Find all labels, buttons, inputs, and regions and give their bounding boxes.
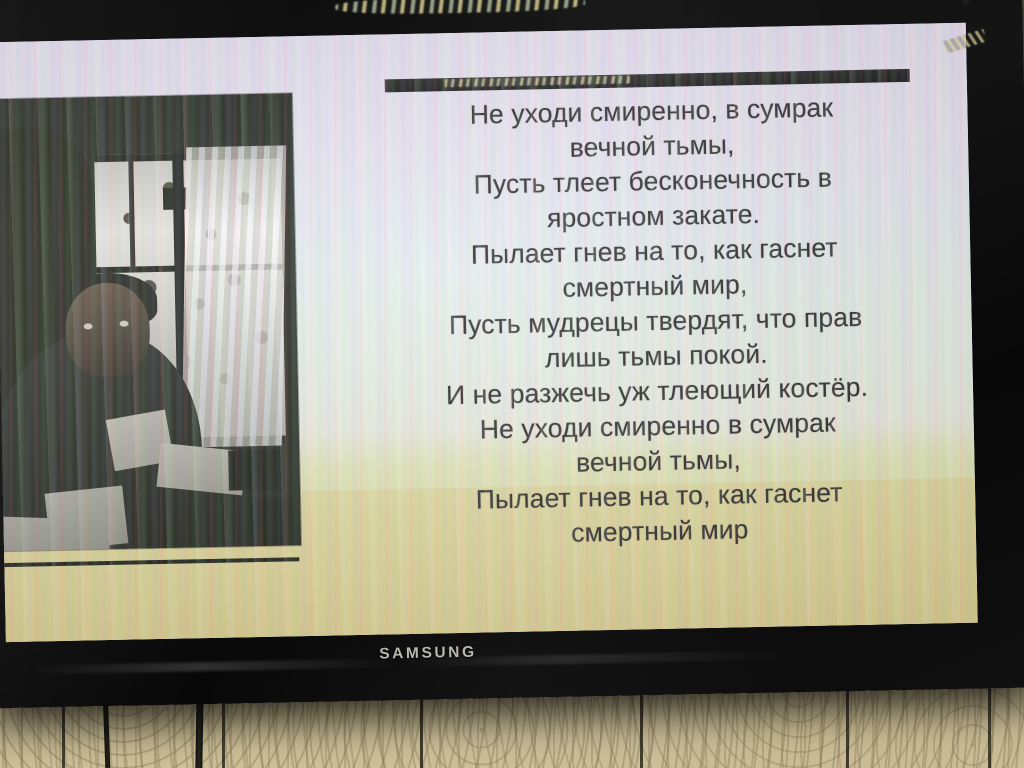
photo-figure-head: [65, 282, 151, 378]
samsung-brand-logo: SAMSUNG: [379, 644, 477, 664]
slide-title-bar: [385, 69, 910, 93]
bezel-top-glare: [335, 0, 585, 15]
poem-text-block: Не уходи смиренно, в сумрак вечной тьмы,…: [363, 88, 948, 554]
presentation-slide: Не уходи смиренно, в сумрак вечной тьмы,…: [0, 23, 978, 642]
bezel-corner-glare: [963, 0, 990, 5]
screenshot-root: Не уходи смиренно, в сумрак вечной тьмы,…: [0, 0, 1024, 768]
photo-bedding: [0, 516, 110, 551]
tv-screen: Не уходи смиренно, в сумрак вечной тьмы,…: [0, 23, 978, 642]
slide-photograph: [0, 93, 301, 551]
photo-sill-object: [251, 497, 294, 551]
titlebar-glare: [445, 75, 630, 87]
photo-sill-object: [228, 450, 283, 491]
television: Не уходи смиренно, в сумрак вечной тьмы,…: [0, 0, 1024, 708]
photo-curtain: [182, 145, 286, 447]
slide-divider-rule: [0, 557, 299, 567]
